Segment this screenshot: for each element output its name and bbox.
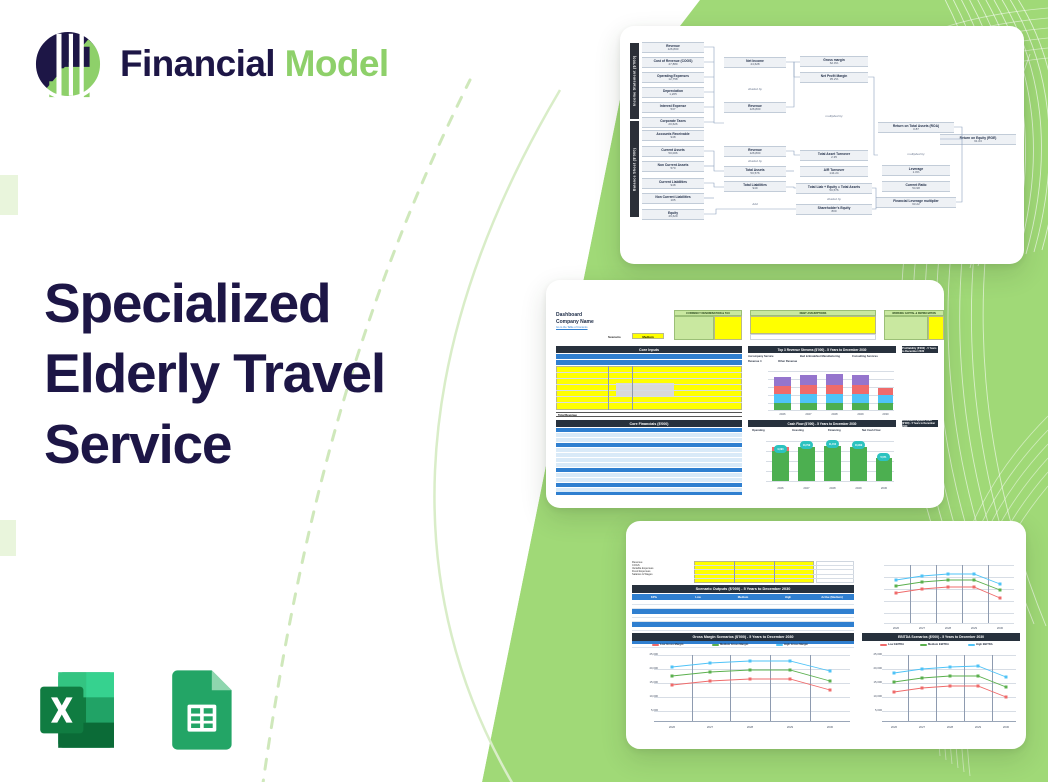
cash-flow-chart: Operating Investing Financing Net Cash F… <box>748 429 896 495</box>
flowchart-connectors <box>620 26 1024 264</box>
panel-input-cells[interactable] <box>750 316 876 334</box>
section-title-cash-flow: Cash Flow ($'000) - 5 Years to December … <box>748 420 896 427</box>
assumption-labels: Revenue COGS Variable Expenses Fixed Exp… <box>632 561 692 583</box>
scenario-label: Scenario <box>608 335 621 339</box>
scenario-table-title: Scenario Outputs ($'000) - 5 Years to De… <box>632 585 854 593</box>
scenario-header-cells: KPIs Low Medium High Active (Medium) <box>632 594 854 600</box>
panel-body <box>674 316 714 340</box>
financial-dashboard-screenshot[interactable]: Dashboard Company Name Go to the Table o… <box>546 280 944 508</box>
ebitda-lines <box>862 643 1020 735</box>
dashboard-toc-link[interactable]: Go to the Table of Contents <box>556 326 588 329</box>
headline-line-2: Elderly Travel <box>44 342 385 404</box>
dashboard-right-column <box>902 280 944 508</box>
core-financials-table <box>556 433 742 495</box>
dashboard-title: Dashboard <box>556 312 582 318</box>
headline-line-1: Specialized <box>44 272 330 334</box>
ebitda-chart: Low EBITDA Medium EBITDA High EBITDA 25,… <box>862 643 1020 735</box>
dashboard-company-name: Company Name <box>556 319 594 325</box>
table-header-row <box>556 360 742 365</box>
scenario-analysis-screenshot[interactable]: Revenue COGS Variable Expenses Fixed Exp… <box>626 521 1026 749</box>
gross-margin-chart: Low Gross Margin Medium Gross Margin Hig… <box>632 643 854 735</box>
brand-logo[interactable]: Financial Model <box>32 28 389 100</box>
total-revenue-row: Total Revenue <box>556 412 742 417</box>
google-sheets-icon[interactable] <box>156 665 246 755</box>
scenario-canvas: Revenue COGS Variable Expenses Fixed Exp… <box>626 521 1026 749</box>
section-title-core-financials: Core Financials ($'000) <box>556 420 742 427</box>
slide-canvas: Financial Model Specialized Elderly Trav… <box>0 0 1048 782</box>
scenario-table-body <box>632 601 854 649</box>
brand-wordmark: Financial Model <box>120 43 389 85</box>
section-title-payback: Investment Payback Chart ($'000) - 5 Yea… <box>902 420 938 427</box>
section-title-revenue-streams: Top 3 Revenue Streams ($'000) - 5 Years … <box>748 346 896 353</box>
financial-model-circle-bars-icon <box>32 28 104 100</box>
ebitda-chart-title: EBITDA Scenarios ($'000) - 5 Years to De… <box>862 633 1020 641</box>
file-format-icons <box>33 665 246 755</box>
dashboard-canvas: Dashboard Company Name Go to the Table o… <box>546 280 944 508</box>
revenue-streams-chart: Accompany Service Bed & Breakfast Manufa… <box>748 355 896 417</box>
table-header-row <box>556 428 742 432</box>
flowchart-canvas: Income Statement ($'000) Balance Sheet (… <box>620 26 1024 264</box>
page-title: Specialized Elderly Travel Service <box>44 268 474 479</box>
gross-margin-chart-title: Gross Margin Scenarios ($'000) - 5 Years… <box>632 633 854 641</box>
section-title-profitability: Profitability ($'000) - 5 Years to Decem… <box>902 346 938 353</box>
scenario-select[interactable]: Medium <box>632 333 664 339</box>
brand-word-financial: Financial <box>120 43 285 84</box>
scenario-trend-chart: 2026 2027 2028 2029 2030 <box>866 559 1018 639</box>
panel-input-cells[interactable] <box>714 316 742 340</box>
brand-word-model: Model <box>285 43 389 84</box>
table-header-row <box>556 354 742 359</box>
financial-ratio-flowchart-screenshot[interactable]: Income Statement ($'000) Balance Sheet (… <box>620 26 1024 264</box>
panel-row <box>750 334 876 340</box>
section-title-core-inputs: Core Inputs <box>556 346 742 353</box>
gross-margin-lines <box>632 643 854 735</box>
headline-line-3: Service <box>44 413 231 475</box>
microsoft-excel-icon[interactable] <box>33 665 123 755</box>
